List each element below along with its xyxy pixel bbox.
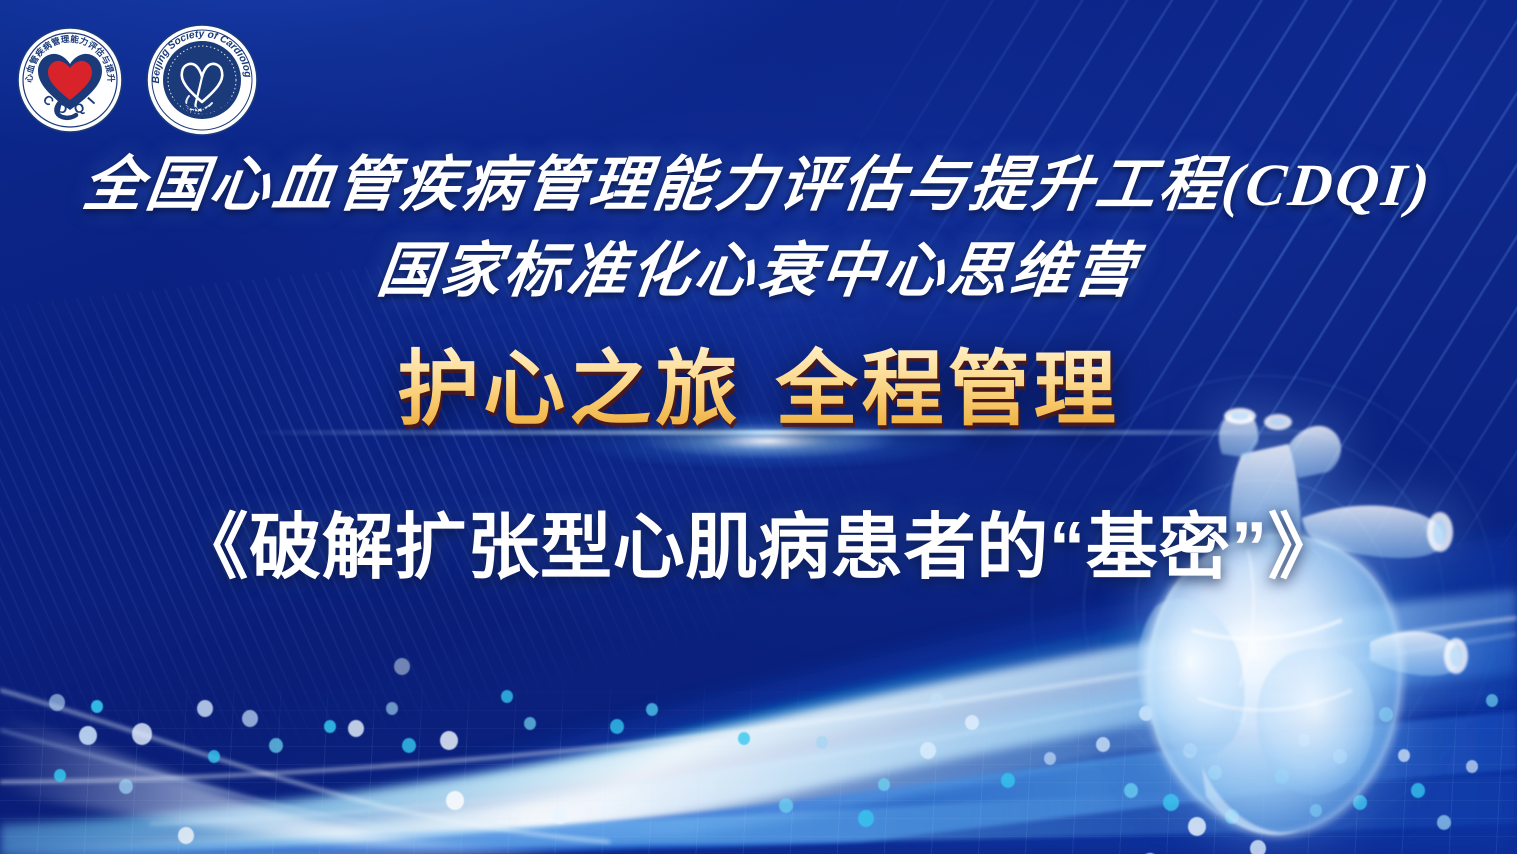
slogan-part-2: 全程管理 (776, 344, 1120, 435)
program-title-line-2: 国家标准化心衰中心思维营 (0, 222, 1517, 309)
slogan-part-1: 护心之旅 (397, 344, 741, 435)
beijing-society-of-cardiology-logo[interactable]: · Beijing Society of Cardiology · 北京心脏学会 (146, 24, 258, 136)
anatomical-heart-render (1052, 398, 1502, 854)
poster-canvas: 全国心血管疾病管理能力评估与提升工程 C D Q I (0, 0, 1517, 854)
program-title-line-1: 全国心血管疾病管理能力评估与提升工程(CDQI) (0, 136, 1517, 223)
cdqi-logo[interactable]: 全国心血管疾病管理能力评估与提升工程 C D Q I (16, 26, 124, 134)
logo-group: 全国心血管疾病管理能力评估与提升工程 C D Q I (16, 24, 258, 136)
topic-title: 《破解扩张型心肌病患者的“基密”》 (0, 488, 1517, 593)
slogan-headline: 护心之旅全程管理 (0, 322, 1517, 441)
